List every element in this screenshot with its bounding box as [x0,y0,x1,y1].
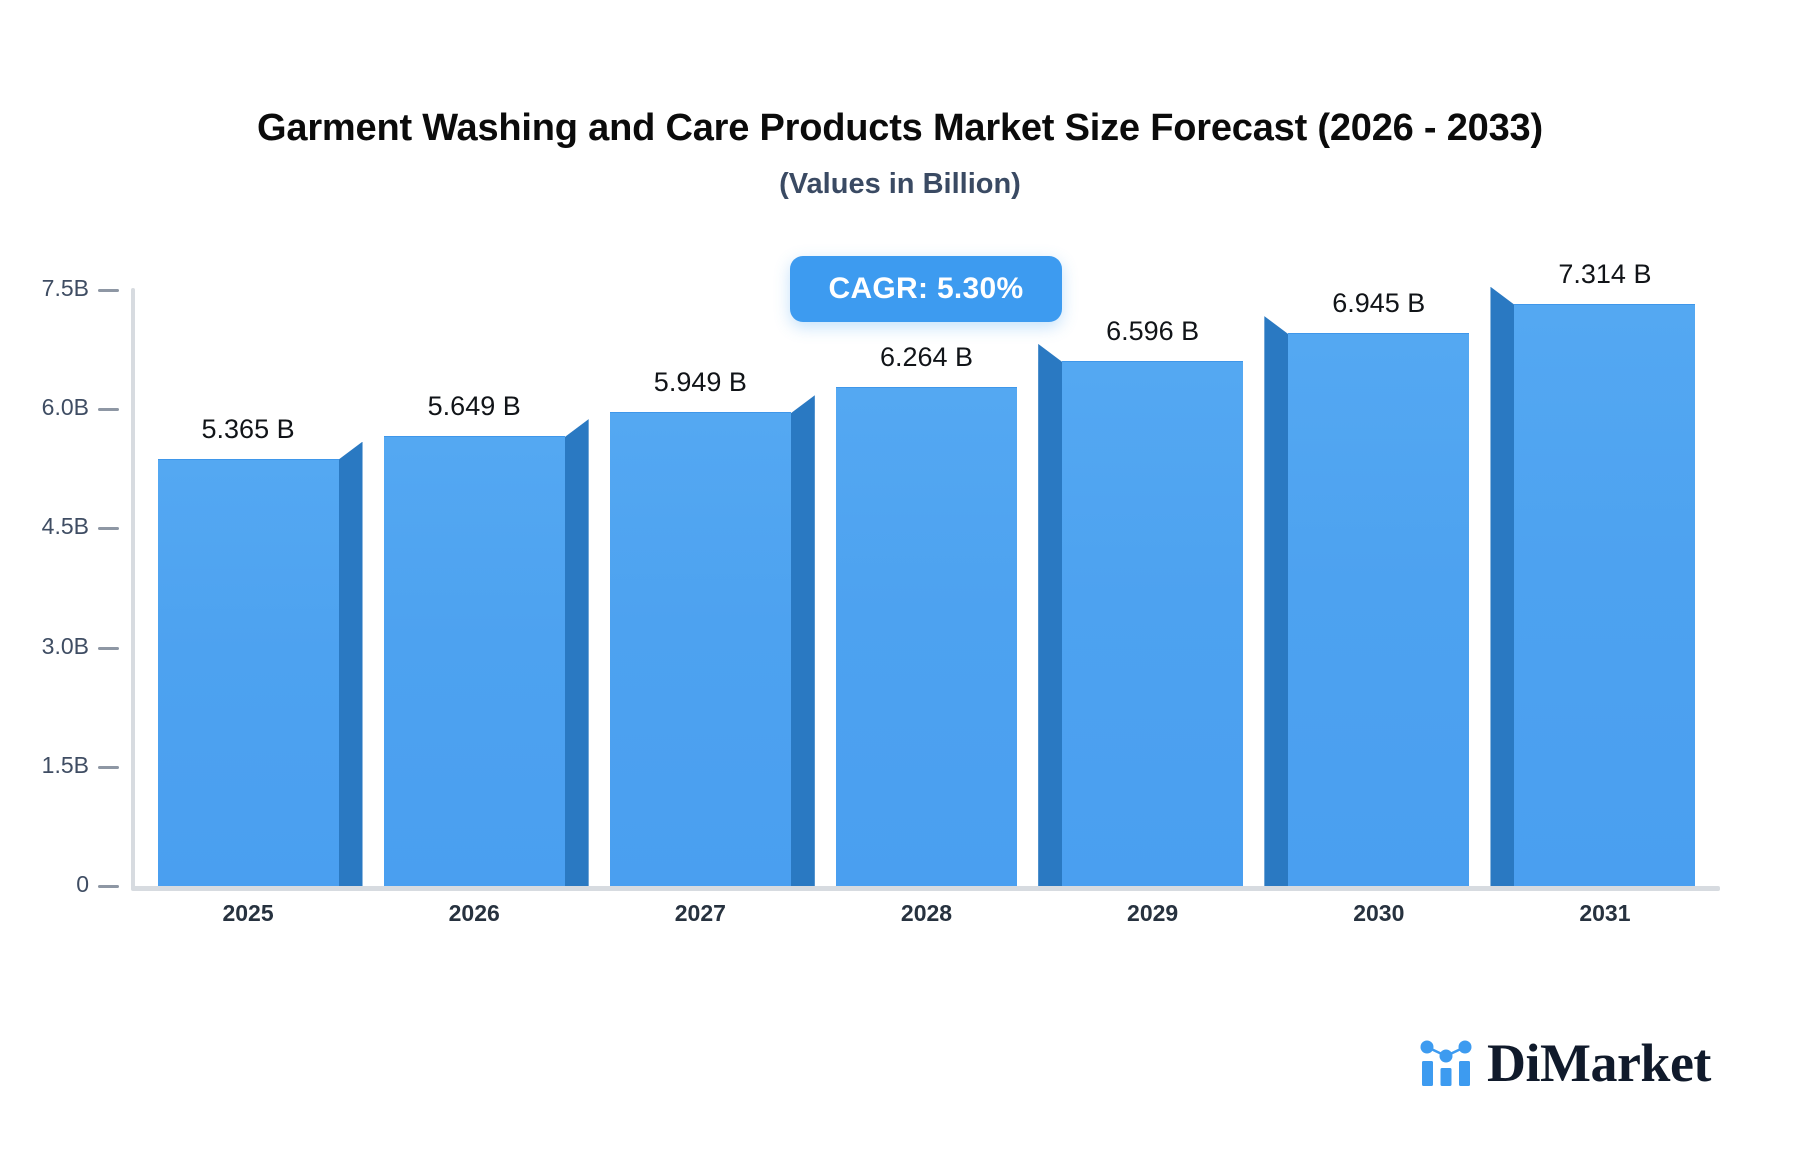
bar-chart-dots-icon [1418,1037,1474,1089]
bar-front-face [1288,333,1469,886]
y-axis-tick-label: 4.5B [42,513,89,540]
x-axis-line [131,886,1720,891]
bar-value-label: 7.314 B [1558,259,1651,290]
y-axis-line [131,288,135,890]
bar-front-face [1514,304,1695,886]
y-axis-tick-mark [98,766,119,769]
y-axis-tick-label: 6.0B [42,394,89,421]
bar-front-face [1062,361,1243,886]
y-axis-tick-label: 3.0B [42,633,89,660]
logo-wordmark: DiMarket [1487,1036,1711,1090]
chart-container: Garment Washing and Care Products Market… [0,0,1800,1156]
bar-2026: 5.649 B [384,437,565,886]
bar-2027: 5.949 B [610,413,791,886]
x-axis-tick-label: 2027 [675,900,726,927]
y-axis-tick-mark [98,885,119,888]
bar-front-face [836,387,1017,886]
bar-side-face [791,395,815,886]
bar-2030: 6.945 B [1288,334,1469,886]
bar-side-face [1490,287,1514,886]
y-axis-tick-mark [98,527,119,530]
bar-2029: 6.596 B [1062,362,1243,886]
x-axis-tick-label: 2025 [222,900,273,927]
x-axis-tick-label: 2031 [1579,900,1630,927]
y-axis-tick-mark [98,408,119,411]
bar-value-label: 5.365 B [202,414,295,445]
bar-side-face [1038,344,1062,886]
bar-value-label: 6.945 B [1332,288,1425,319]
x-axis-tick-label: 2026 [449,900,500,927]
bar-value-label: 6.596 B [1106,316,1199,347]
bar-2028: 6.264 B [836,388,1017,886]
x-axis-tick-label: 2030 [1353,900,1404,927]
bar-value-label: 6.264 B [880,342,973,373]
y-axis-tick-label: 0 [76,871,89,898]
bar-front-face [610,412,791,886]
bar-value-label: 5.649 B [428,391,521,422]
x-axis-tick-label: 2029 [1127,900,1178,927]
y-axis-tick-mark [98,647,119,650]
bar-front-face [158,459,339,886]
dimarket-logo: DiMarket [1418,1036,1711,1090]
bar-value-label: 5.949 B [654,367,747,398]
cagr-badge: CAGR: 5.30% [790,256,1062,322]
y-axis-tick-label: 1.5B [42,752,89,779]
x-axis-tick-label: 2028 [901,900,952,927]
bar-2025: 5.365 B [158,460,339,886]
bar-side-face [565,419,589,886]
y-axis-tick-mark [98,289,119,292]
bar-side-face [339,442,363,886]
bar-side-face [1264,316,1288,886]
y-axis-tick-label: 7.5B [42,275,89,302]
bar-2031: 7.314 B [1514,305,1695,886]
bar-front-face [384,436,565,886]
plot-area: 01.5B3.0B4.5B6.0B7.5B 202520262027202820… [0,0,1800,1156]
